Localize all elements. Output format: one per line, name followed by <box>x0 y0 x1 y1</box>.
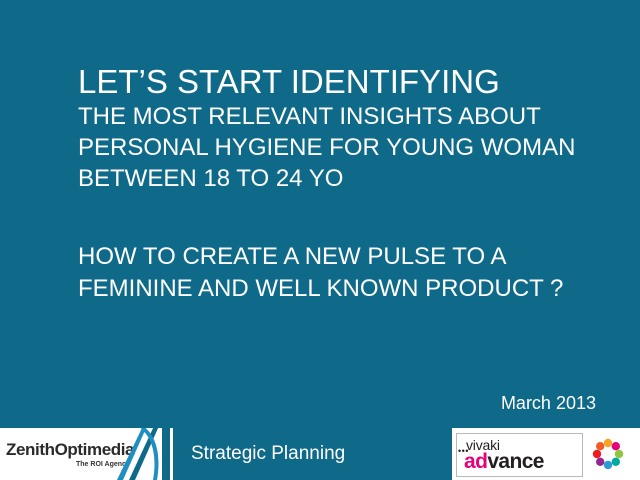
presentation-slide: LET’S START IDENTIFYING THE MOST RELEVAN… <box>0 0 640 480</box>
vivaki-pinwheel-icon <box>590 436 626 472</box>
footer-band: Strategic Planning <box>162 428 452 480</box>
footer-band-title: Strategic Planning <box>191 443 345 465</box>
advance-wordmark: advance <box>464 450 544 474</box>
slide-question-line-2: FEMININE AND WELL KNOWN PRODUCT ? <box>78 273 610 305</box>
vivaki-advance-logo: ••• vivaki advance <box>452 428 640 480</box>
zenithoptimedia-logo: ZenithOptimedia The ROI Agency <box>0 428 162 480</box>
slide-subline-2: PERSONAL HYGIENE FOR YOUNG WOMAN <box>78 133 610 163</box>
advance-wordmark-vance: vance <box>487 450 544 473</box>
footer-band-inner: Strategic Planning <box>170 428 455 480</box>
slide-footer: ZenithOptimedia The ROI Agency Strategic… <box>0 428 640 480</box>
slide-question-line-1: HOW TO CREATE A NEW PULSE TO A <box>78 241 610 273</box>
slide-question-block: HOW TO CREATE A NEW PULSE TO A FEMININE … <box>78 241 610 305</box>
slide-date: March 2013 <box>501 393 596 414</box>
advance-wordmark-ad: ad <box>464 450 487 473</box>
zenithoptimedia-swoosh-icon <box>113 428 162 480</box>
slide-headline: LET’S START IDENTIFYING <box>78 62 610 102</box>
vivaki-advance-box: ••• vivaki advance <box>456 433 583 477</box>
slide-subline-3: BETWEEN 18 TO 24 YO <box>78 164 610 194</box>
slide-text-block: LET’S START IDENTIFYING THE MOST RELEVAN… <box>78 62 610 305</box>
slide-subline-1: THE MOST RELEVANT INSIGHTS ABOUT <box>78 102 610 132</box>
